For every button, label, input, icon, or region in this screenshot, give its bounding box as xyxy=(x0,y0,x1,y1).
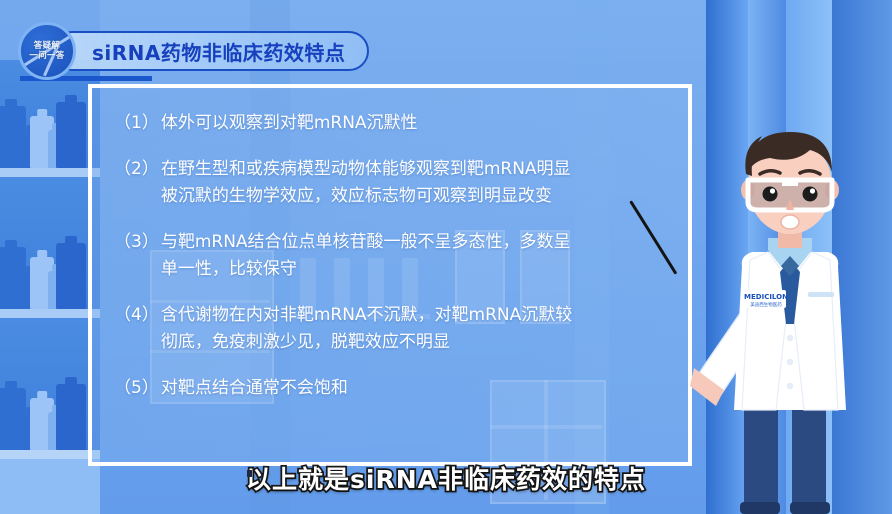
company-logo-circle-icon: 答疑解 一问一答 xyxy=(18,22,76,80)
bullet-text: 对靶点结合通常不会饱和 xyxy=(161,375,666,402)
logo-text: 答疑解 一问一答 xyxy=(29,41,64,61)
bullet-line: 体外可以观察到对靶mRNA沉默性 xyxy=(161,110,666,137)
bullet-number: （5） xyxy=(114,375,161,402)
bullet-item: （2）在野生型和或疾病模型动物体能够观察到靶mRNA明显被沉默的生物学效应，效应… xyxy=(114,156,666,210)
bullet-item: （5）对靶点结合通常不会饱和 xyxy=(114,375,666,402)
bullet-number: （2） xyxy=(114,156,161,210)
video-frame: 答疑解 一问一答 siRNA药物非临床药效特点 （1）体外可以观察到对靶mRNA… xyxy=(0,0,892,514)
bullet-line: 被沉默的生物学效应，效应标志物可观察到明显改变 xyxy=(161,183,666,210)
shelf-board xyxy=(0,309,100,318)
badge-sub-text: 美迪西生物医药 xyxy=(750,301,782,308)
bullet-number: （1） xyxy=(114,110,161,137)
bottle-icon xyxy=(56,243,86,309)
bottle-icon xyxy=(56,102,86,168)
bullet-line: 含代谢物在内对非靶mRNA不沉默，对靶mRNA沉默较 xyxy=(161,302,666,329)
bullet-number: （4） xyxy=(114,302,161,356)
logo-line-1: 答疑解 xyxy=(29,41,64,51)
shelf-bay xyxy=(0,318,100,450)
bullet-number: （3） xyxy=(114,229,161,283)
bullet-line: 彻底，免疫刺激少见，脱靶效应不明显 xyxy=(161,329,666,356)
title-bar: 答疑解 一问一答 siRNA药物非临床药效特点 xyxy=(18,22,369,80)
bullet-line: 与靶mRNA结合位点单核苷酸一般不呈多态性，多数呈 xyxy=(161,229,666,256)
bullet-text: 含代谢物在内对非靶mRNA不沉默，对靶mRNA沉默较彻底，免疫刺激少见，脱靶效应… xyxy=(161,302,666,356)
bullet-list: （1）体外可以观察到对靶mRNA沉默性（2）在野生型和或疾病模型动物体能够观察到… xyxy=(92,88,688,462)
bullet-line: 单一性，比较保守 xyxy=(161,256,666,283)
bullet-item: （4）含代谢物在内对非靶mRNA不沉默，对靶mRNA沉默较彻底，免疫刺激少见，脱… xyxy=(114,302,666,356)
shelf-board xyxy=(0,168,100,177)
bullet-item: （1）体外可以观察到对靶mRNA沉默性 xyxy=(114,110,666,137)
bullet-text: 与靶mRNA结合位点单核苷酸一般不呈多态性，多数呈单一性，比较保守 xyxy=(161,229,666,283)
bullet-text: 在野生型和或疾病模型动物体能够观察到靶mRNA明显被沉默的生物学效应，效应标志物… xyxy=(161,156,666,210)
shelf-bay xyxy=(0,177,100,309)
bullet-line: 在野生型和或疾病模型动物体能够观察到靶mRNA明显 xyxy=(161,156,666,183)
shelf-bay xyxy=(0,459,100,514)
logo-line-2: 一问一答 xyxy=(29,51,64,61)
page-title: siRNA药物非临床药效特点 xyxy=(92,37,345,66)
shelf-board xyxy=(0,450,100,459)
bottle-icon xyxy=(56,384,86,450)
bullet-text: 体外可以观察到对靶mRNA沉默性 xyxy=(161,110,666,137)
badge-brand-text: MEDICILON xyxy=(744,293,788,301)
bullet-item: （3）与靶mRNA结合位点单核苷酸一般不呈多态性，多数呈单一性，比较保守 xyxy=(114,229,666,283)
supply-shelf xyxy=(0,60,100,514)
subtitle-marker xyxy=(247,470,252,477)
page-title-pill: siRNA药物非临床药效特点 xyxy=(52,31,369,71)
presentation-board: （1）体外可以观察到对靶mRNA沉默性（2）在野生型和或疾病模型动物体能够观察到… xyxy=(88,84,692,466)
bullet-line: 对靶点结合通常不会饱和 xyxy=(161,375,666,402)
scientist-character: MEDICILON 美迪西生物医药 xyxy=(690,110,890,514)
